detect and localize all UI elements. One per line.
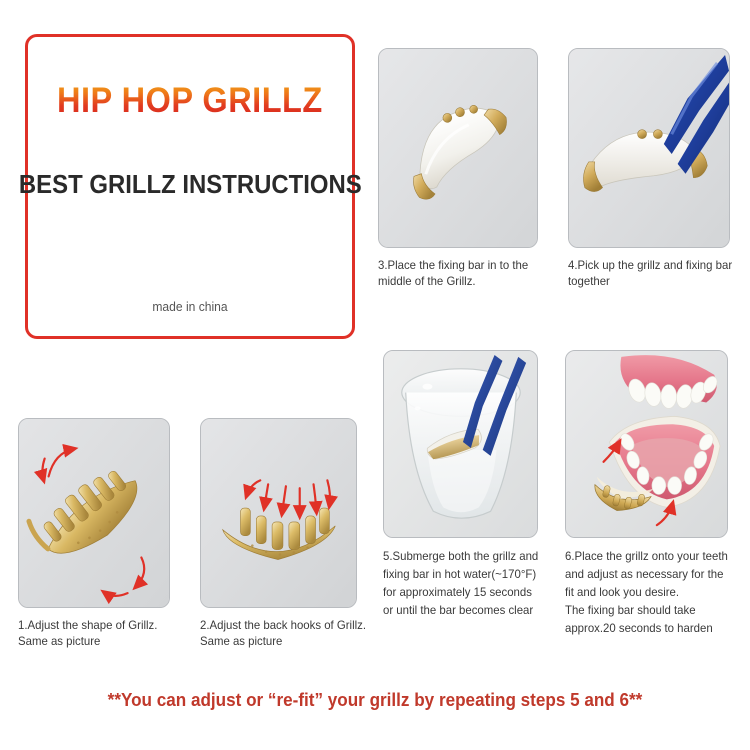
footer-note: **You can adjust or “re-fit” your grillz…	[19, 690, 732, 711]
title-card: HIP HOP GRILLZ BEST GRILLZ INSTRUCTIONS …	[25, 34, 355, 339]
origin-label: made in china	[39, 299, 340, 314]
instructions-subtitle: BEST GRILLZ INSTRUCTIONS	[19, 169, 362, 200]
instruction-sheet: HIP HOP GRILLZ BEST GRILLZ INSTRUCTIONS …	[0, 0, 750, 750]
grillz-in-hot-water-glass-photo	[383, 350, 538, 538]
step-3: 3.Place the fixing bar in to the middle …	[378, 48, 538, 289]
step-4: 4.Pick up the grillz and fixing bar toge…	[568, 48, 741, 289]
step-1: 1.Adjust the shape of Grillz. Same as pi…	[18, 418, 170, 649]
brand-title: HIP HOP GRILLZ	[57, 81, 323, 121]
step-4-caption: 4.Pick up the grillz and fixing bar toge…	[568, 257, 732, 289]
tweezers-illustration	[569, 49, 729, 247]
step-2: 2.Adjust the back hooks of Grillz. Same …	[200, 418, 375, 649]
gold-grillz-hooks-illustration	[201, 419, 356, 607]
step-5: 5.Submerge both the grillz and fixing ba…	[383, 350, 546, 619]
water-glass-illustration	[384, 351, 537, 537]
clear-grillz-illustration	[379, 49, 537, 247]
tweezers-holding-grillz-photo	[568, 48, 730, 248]
step-5-caption: 5.Submerge both the grillz and fixing ba…	[383, 547, 538, 619]
gold-grillz-back-hooks-photo	[200, 418, 357, 608]
step-6: 6.Place the grillz onto your teeth and a…	[565, 350, 736, 637]
step-6-caption: 6.Place the grillz onto your teeth and a…	[565, 547, 728, 637]
gold-grillz-shape-adjust-photo	[18, 418, 170, 608]
dental-model-with-grillz-photo	[565, 350, 728, 538]
step-1-caption: 1.Adjust the shape of Grillz. Same as pi…	[18, 617, 162, 649]
step-3-caption: 3.Place the fixing bar in to the middle …	[378, 257, 530, 289]
dental-model-illustration	[566, 351, 727, 537]
gold-grillz-illustration	[19, 419, 169, 607]
grillz-with-fixing-bar-photo	[378, 48, 538, 248]
step-2-caption: 2.Adjust the back hooks of Grillz. Same …	[200, 617, 366, 649]
